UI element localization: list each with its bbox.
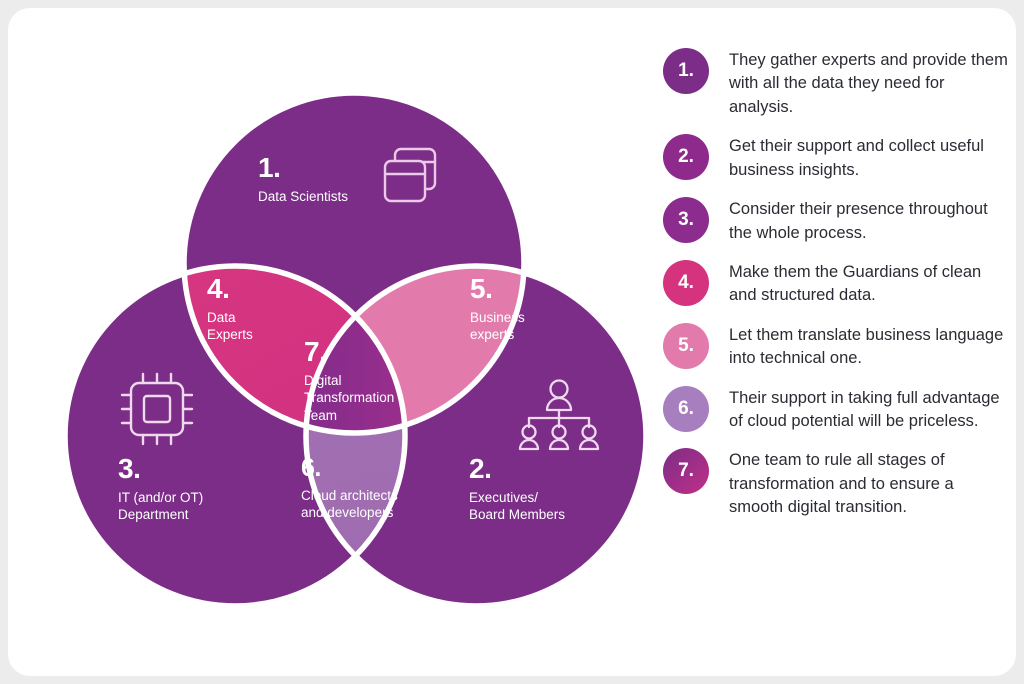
legend-text-2: Get their support and collect useful bus… <box>729 132 1008 182</box>
legend-badge-4: 4. <box>663 260 709 306</box>
legend-text-7: One team to rule all stages of transform… <box>729 446 1008 519</box>
legend-text-6: Their support in taking full advantage o… <box>729 384 1008 434</box>
diagram-card: 1. Data Scientists 5. Business experts 4… <box>8 8 1016 676</box>
legend-text-5: Let them translate business language int… <box>729 321 1008 371</box>
legend-item-1: 1. They gather experts and provide them … <box>663 46 1008 119</box>
legend-text-4: Make them the Guardians of clean and str… <box>729 258 1008 308</box>
venn-svg <box>8 8 656 676</box>
venn-diagram: 1. Data Scientists 5. Business experts 4… <box>8 8 656 676</box>
legend-badge-7: 7. <box>663 448 709 494</box>
legend-badge-2: 2. <box>663 134 709 180</box>
legend-item-4: 4. Make them the Guardians of clean and … <box>663 258 1008 308</box>
legend-text-3: Consider their presence throughout the w… <box>729 195 1008 245</box>
legend-badge-5: 5. <box>663 323 709 369</box>
legend-item-2: 2. Get their support and collect useful … <box>663 132 1008 182</box>
legend-item-6: 6. Their support in taking full advantag… <box>663 384 1008 434</box>
legend-item-7: 7. One team to rule all stages of transf… <box>663 446 1008 519</box>
legend-badge-3: 3. <box>663 197 709 243</box>
legend-item-5: 5. Let them translate business language … <box>663 321 1008 371</box>
legend-text-1: They gather experts and provide them wit… <box>729 46 1008 119</box>
legend-badge-6: 6. <box>663 386 709 432</box>
legend-item-3: 3. Consider their presence throughout th… <box>663 195 1008 245</box>
legend-badge-1: 1. <box>663 48 709 94</box>
legend-list: 1. They gather experts and provide them … <box>663 46 1008 533</box>
